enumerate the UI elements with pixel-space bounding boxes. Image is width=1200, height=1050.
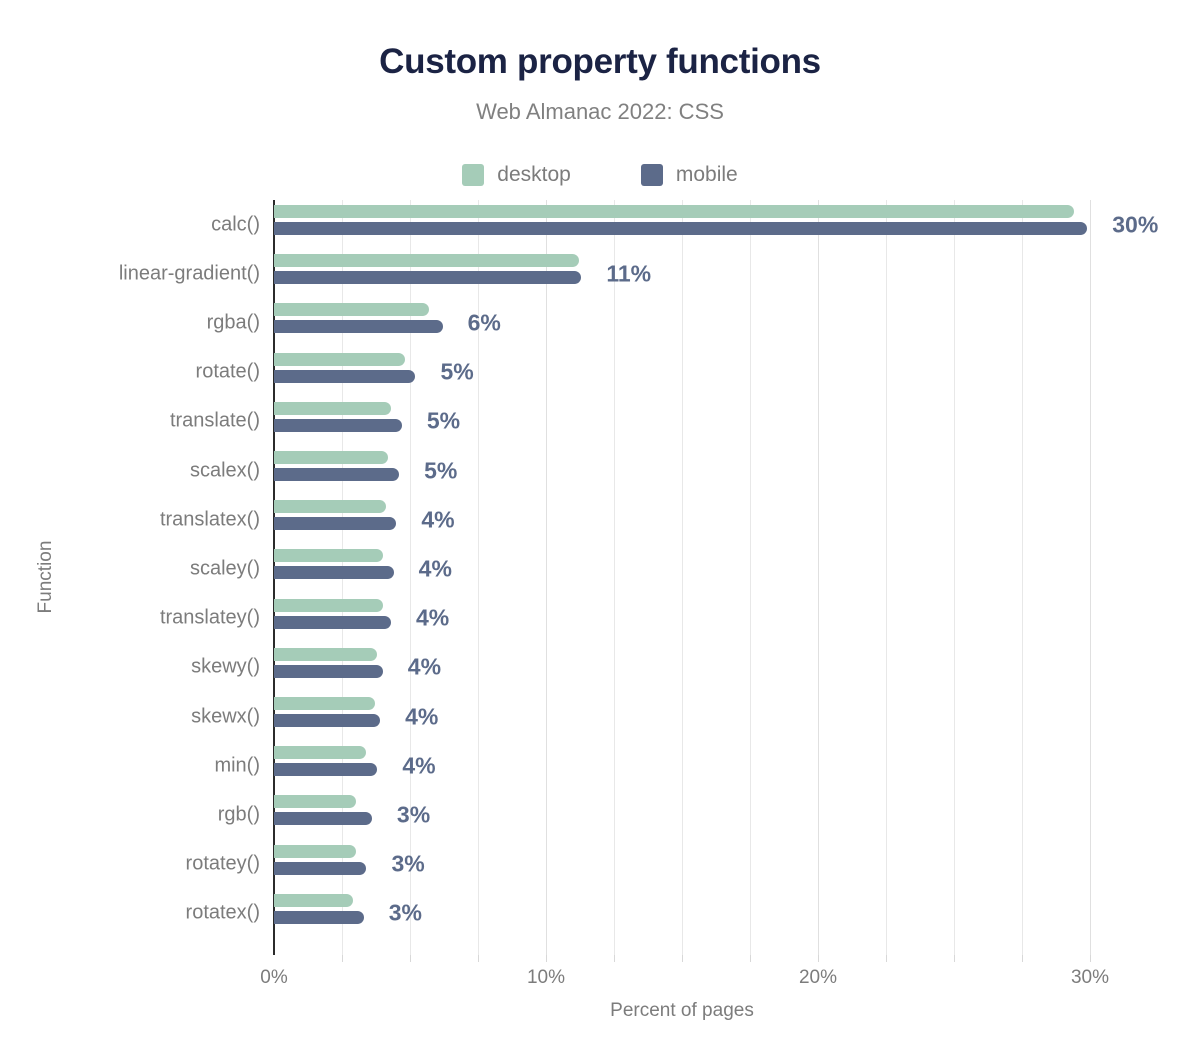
bar-value-label: 4%: [408, 654, 441, 681]
y-axis-label: rgb(): [218, 803, 260, 826]
bar-desktop[interactable]: [274, 303, 429, 316]
bar-row[interactable]: translatex()4%: [274, 495, 1090, 544]
bar-mobile[interactable]: [274, 222, 1087, 235]
plot-area: calc()30%linear-gradient()11%rgba()6%rot…: [274, 200, 1090, 955]
y-axis-title: Function: [35, 541, 57, 614]
bar-mobile[interactable]: [274, 911, 364, 924]
bar-row[interactable]: translate()5%: [274, 397, 1090, 446]
bar-mobile[interactable]: [274, 665, 383, 678]
chart-title: Custom property functions: [0, 42, 1200, 82]
x-tick-mark: [818, 955, 819, 962]
bar-row[interactable]: min()4%: [274, 741, 1090, 790]
bar-mobile[interactable]: [274, 862, 366, 875]
x-tick-mark: [478, 955, 479, 962]
bar-value-label: 3%: [389, 900, 422, 927]
y-axis-label: scaley(): [190, 557, 260, 580]
bar-row[interactable]: scaley()4%: [274, 544, 1090, 593]
bar-value-label: 5%: [424, 457, 457, 484]
x-axis-tick-label: 10%: [527, 967, 565, 989]
x-tick-mark: [954, 955, 955, 962]
bar-desktop[interactable]: [274, 648, 377, 661]
x-axis-tick-label: 0%: [260, 967, 287, 989]
bar-value-label: 4%: [416, 605, 449, 632]
x-axis-tick-label: 20%: [799, 967, 837, 989]
y-axis-label: translate(): [170, 410, 260, 433]
y-axis-label: scalex(): [190, 459, 260, 482]
legend-label-desktop: desktop: [497, 163, 571, 187]
legend-swatch-desktop: [462, 164, 484, 186]
bar-desktop[interactable]: [274, 795, 356, 808]
y-axis-label: skewy(): [191, 656, 260, 679]
legend-swatch-mobile: [641, 164, 663, 186]
bar-value-label: 3%: [397, 801, 430, 828]
bar-value-label: 3%: [391, 851, 424, 878]
bar-desktop[interactable]: [274, 402, 391, 415]
x-tick-mark: [886, 955, 887, 962]
bar-row[interactable]: rotatey()3%: [274, 840, 1090, 889]
chart-subtitle: Web Almanac 2022: CSS: [0, 99, 1200, 125]
bar-row[interactable]: skewy()4%: [274, 643, 1090, 692]
x-tick-mark: [750, 955, 751, 962]
bar-mobile[interactable]: [274, 468, 399, 481]
bar-desktop[interactable]: [274, 353, 405, 366]
y-axis-label: rotatey(): [186, 853, 260, 876]
legend-label-mobile: mobile: [676, 163, 738, 187]
bar-value-label: 4%: [402, 752, 435, 779]
bar-value-label: 11%: [606, 260, 651, 287]
bar-desktop[interactable]: [274, 845, 356, 858]
x-tick-mark: [1022, 955, 1023, 962]
y-axis-label: min(): [214, 754, 260, 777]
bar-row[interactable]: scalex()5%: [274, 446, 1090, 495]
bar-row[interactable]: rgb()3%: [274, 790, 1090, 839]
bar-value-label: 30%: [1112, 211, 1158, 238]
bar-value-label: 4%: [405, 703, 438, 730]
x-tick-mark: [342, 955, 343, 962]
x-axis-tick-label: 30%: [1071, 967, 1109, 989]
bar-mobile[interactable]: [274, 763, 377, 776]
x-tick-mark: [1090, 955, 1091, 962]
y-axis-label: rotatex(): [186, 902, 260, 925]
bar-value-label: 4%: [419, 555, 452, 582]
x-axis-title: Percent of pages: [274, 1000, 1090, 1022]
bar-chart: Custom property functions Web Almanac 20…: [0, 0, 1200, 1050]
bar-desktop[interactable]: [274, 549, 383, 562]
bar-desktop[interactable]: [274, 894, 353, 907]
x-tick-mark: [614, 955, 615, 962]
y-axis-label: linear-gradient(): [119, 262, 260, 285]
bar-desktop[interactable]: [274, 746, 366, 759]
bar-value-label: 5%: [427, 408, 460, 435]
bar-row[interactable]: skewx()4%: [274, 692, 1090, 741]
bar-value-label: 4%: [421, 506, 454, 533]
bar-row[interactable]: rgba()6%: [274, 298, 1090, 347]
bar-mobile[interactable]: [274, 566, 394, 579]
y-axis-label: translatey(): [160, 607, 260, 630]
bar-row[interactable]: translatey()4%: [274, 594, 1090, 643]
bar-mobile[interactable]: [274, 714, 380, 727]
gridline: [1090, 200, 1091, 955]
y-axis-label: rotate(): [196, 361, 260, 384]
chart-legend: desktop mobile: [0, 163, 1200, 187]
bar-desktop[interactable]: [274, 500, 386, 513]
y-axis-label: translatex(): [160, 508, 260, 531]
y-axis-label: calc(): [211, 213, 260, 236]
bar-desktop[interactable]: [274, 451, 388, 464]
bar-row[interactable]: rotatex()3%: [274, 889, 1090, 938]
bar-mobile[interactable]: [274, 320, 443, 333]
legend-item-desktop[interactable]: desktop: [462, 163, 571, 187]
bar-desktop[interactable]: [274, 205, 1074, 218]
bar-mobile[interactable]: [274, 616, 391, 629]
bar-desktop[interactable]: [274, 254, 579, 267]
y-axis-label: rgba(): [207, 311, 260, 334]
bar-value-label: 6%: [468, 309, 501, 336]
x-tick-mark: [682, 955, 683, 962]
legend-item-mobile[interactable]: mobile: [641, 163, 738, 187]
bar-desktop[interactable]: [274, 599, 383, 612]
bar-row[interactable]: linear-gradient()11%: [274, 249, 1090, 298]
bar-mobile[interactable]: [274, 419, 402, 432]
bar-value-label: 5%: [440, 359, 473, 386]
bar-mobile[interactable]: [274, 812, 372, 825]
y-axis-label: skewx(): [191, 705, 260, 728]
x-tick-mark: [546, 955, 547, 962]
bar-mobile[interactable]: [274, 517, 396, 530]
bar-desktop[interactable]: [274, 697, 375, 710]
bar-row[interactable]: calc()30%: [274, 200, 1090, 249]
x-tick-mark: [410, 955, 411, 962]
bar-mobile[interactable]: [274, 370, 415, 383]
bar-mobile[interactable]: [274, 271, 581, 284]
bar-row[interactable]: rotate()5%: [274, 348, 1090, 397]
